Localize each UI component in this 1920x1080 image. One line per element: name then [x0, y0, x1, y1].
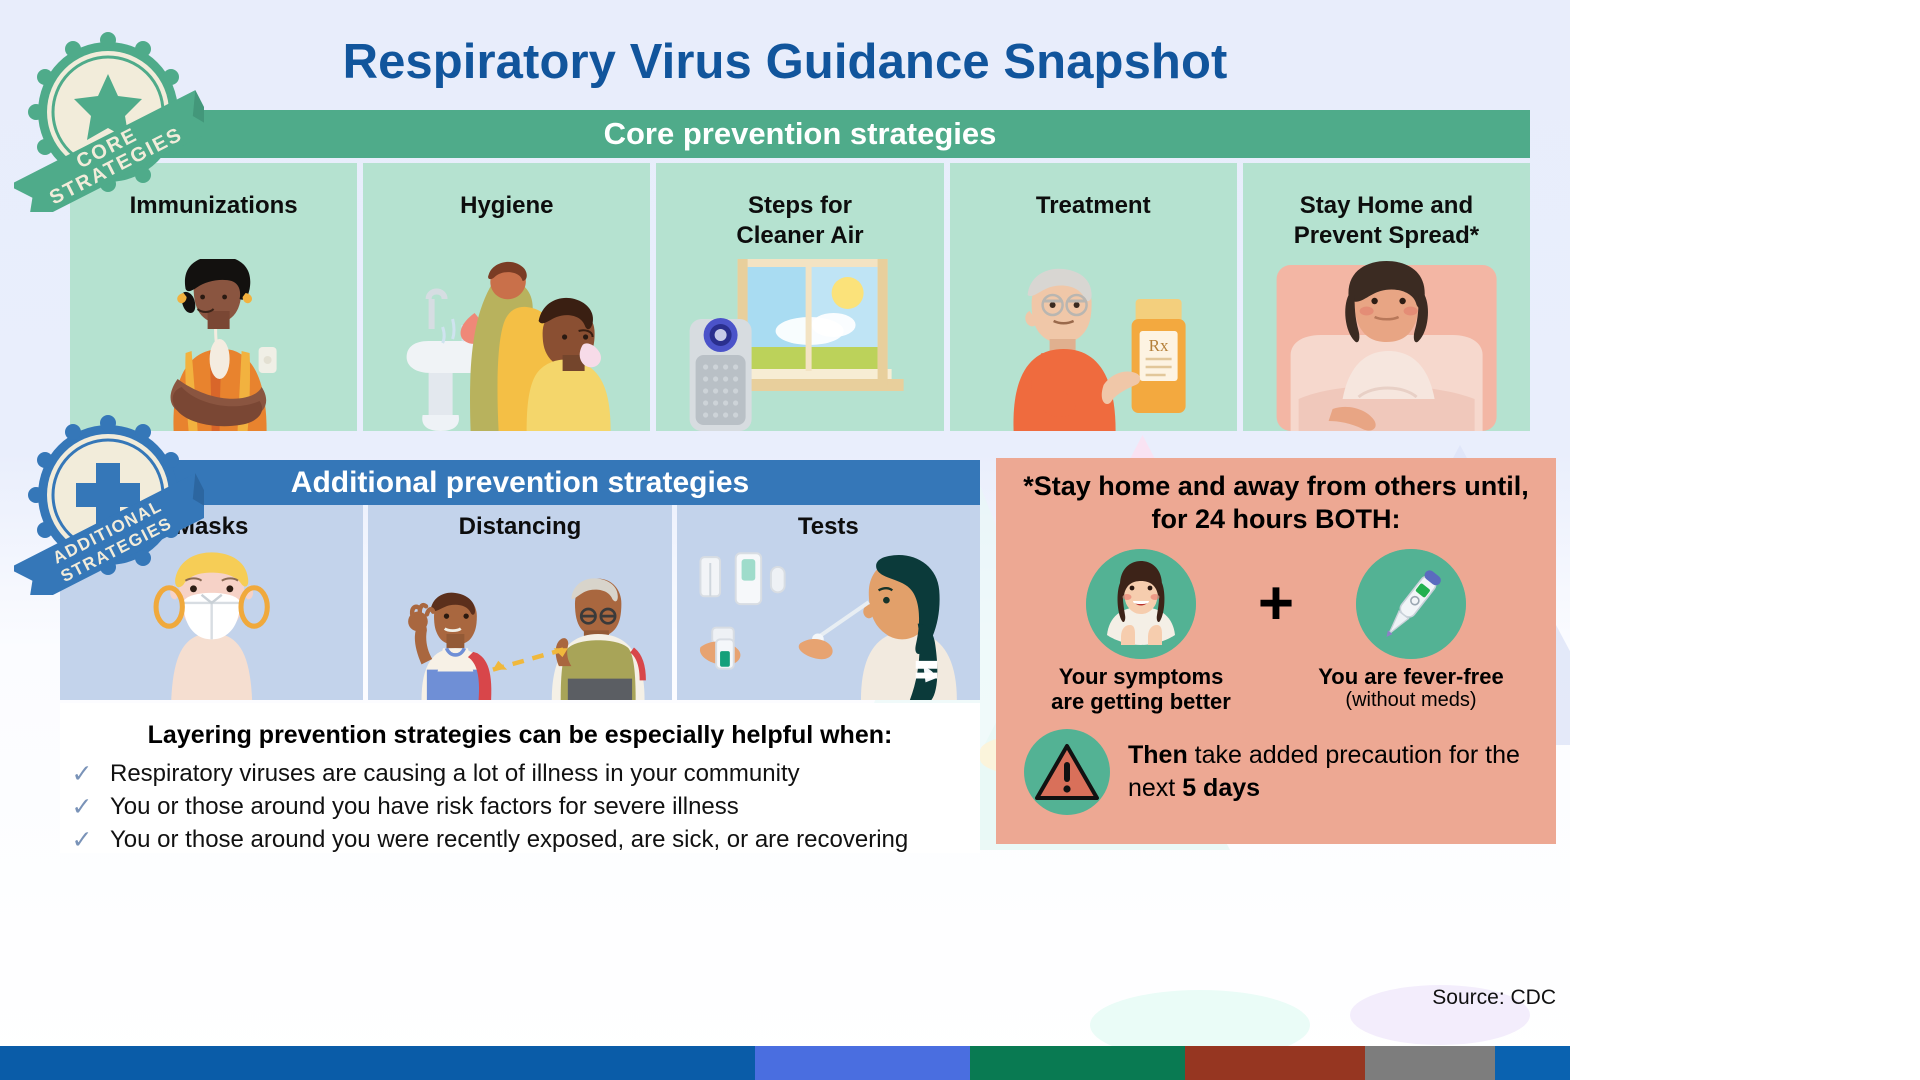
stay-home-conditions: Your symptoms are getting better + — [996, 549, 1556, 715]
core-card-hygiene[interactable]: Hygiene — [363, 163, 650, 431]
core-strategies-row: Immunizations — [70, 163, 1530, 431]
core-card-label-line2: Cleaner Air — [656, 221, 943, 251]
core-strategies-header: Core prevention strategies — [70, 110, 1530, 158]
stay-home-heading-line1: *Stay home and away from others until, — [1010, 470, 1542, 503]
condition-caption: You are fever-free (without meds) — [1306, 664, 1516, 713]
then-precaution-prefix: Then — [1128, 741, 1188, 769]
condition-caption-line2: are getting better — [1036, 689, 1246, 715]
core-strategies-badge: CORE STRATEGIES — [14, 32, 204, 217]
additional-card-distancing[interactable]: Distancing — [368, 505, 671, 700]
plus-icon: + — [1254, 549, 1298, 659]
core-card-cleaner-air[interactable]: Steps for Cleaner Air — [656, 163, 943, 431]
stay-home-heading-line2: for 24 hours BOTH: — [1010, 503, 1542, 536]
then-precaution-text: Then take added precaution for the next … — [1128, 739, 1556, 804]
infographic-canvas: Respiratory Virus Guidance Snapshot Core… — [0, 0, 1570, 1080]
condition-symptoms: Your symptoms are getting better — [1036, 549, 1246, 715]
core-card-label: Treatment — [950, 191, 1237, 221]
core-card-label-line2: Prevent Spread* — [1243, 221, 1530, 251]
checkmark-icon: ✓ — [70, 826, 94, 853]
bottom-color-bar — [0, 1046, 1570, 1080]
condition-caption: Your symptoms are getting better — [1036, 664, 1246, 715]
bottom-bar-segment — [1495, 1046, 1570, 1080]
layering-heading: Layering prevention strategies can be es… — [60, 703, 980, 750]
sick-in-bed-icon — [1243, 259, 1530, 431]
core-card-stay-home[interactable]: Stay Home and Prevent Spread* — [1243, 163, 1530, 431]
layering-list: ✓ Respiratory viruses are causing a lot … — [60, 758, 980, 856]
additional-card-label: Tests — [677, 513, 980, 541]
additional-card-label: Distancing — [368, 513, 671, 541]
list-item: ✓ You or those around you were recently … — [60, 824, 980, 857]
stay-home-heading: *Stay home and away from others until, f… — [996, 458, 1556, 537]
air-purifier-window-icon — [656, 259, 943, 431]
additional-strategies-badge: ADDITIONAL STRATEGIES — [14, 415, 204, 600]
thumbs-up-woman-icon — [1086, 549, 1196, 659]
checkmark-icon: ✓ — [70, 793, 94, 820]
list-item-text: You or those around you have risk factor… — [110, 793, 739, 822]
bottom-bar-segment — [970, 1046, 1185, 1080]
list-item: ✓ You or those around you have risk fact… — [60, 791, 980, 824]
core-strategies-header-label: Core prevention strategies — [604, 116, 997, 152]
handwashing-icon — [363, 259, 650, 431]
stay-home-panel: *Stay home and away from others until, f… — [996, 458, 1556, 844]
then-precaution-row: Then take added precaution for the next … — [1024, 729, 1556, 815]
page-title: Respiratory Virus Guidance Snapshot — [0, 34, 1570, 90]
thermometer-icon — [1356, 549, 1466, 659]
condition-fever-free: You are fever-free (without meds) — [1306, 549, 1516, 713]
core-card-label: Stay Home and Prevent Spread* — [1243, 191, 1530, 251]
condition-caption-line1: Your symptoms — [1036, 664, 1246, 690]
bottom-bar-segment — [1185, 1046, 1365, 1080]
bottom-bar-segment — [0, 1046, 755, 1080]
source-label: Source: CDC — [1432, 986, 1556, 1010]
core-card-treatment[interactable]: Treatment Rx — [950, 163, 1237, 431]
list-item: ✓ Respiratory viruses are causing a lot … — [60, 758, 980, 791]
warning-triangle-icon — [1024, 729, 1110, 815]
core-card-label-line1: Steps for — [656, 191, 943, 221]
two-people-distancing-icon — [368, 547, 671, 700]
condition-caption-line1: You are fever-free — [1306, 664, 1516, 690]
bottom-bar-segment — [755, 1046, 970, 1080]
checkmark-icon: ✓ — [70, 760, 94, 787]
condition-caption-sub: (without meds) — [1306, 689, 1516, 712]
core-card-label: Steps for Cleaner Air — [656, 191, 943, 251]
vaccinated-woman-icon — [70, 259, 357, 431]
core-card-label: Hygiene — [363, 191, 650, 221]
additional-strategies-header-label: Additional prevention strategies — [291, 466, 749, 500]
core-card-label-line1: Stay Home and — [1243, 191, 1530, 221]
layering-panel: Layering prevention strategies can be es… — [60, 703, 980, 853]
list-item-text: Respiratory viruses are causing a lot of… — [110, 760, 800, 789]
list-item-text: You or those around you were recently ex… — [110, 826, 908, 855]
nasal-swab-test-icon — [677, 547, 980, 700]
svg-text:Rx: Rx — [1148, 336, 1168, 355]
then-precaution-tail: 5 days — [1182, 774, 1260, 802]
bottom-bar-segment — [1365, 1046, 1495, 1080]
pill-bottle-senior-icon: Rx — [950, 259, 1237, 431]
additional-card-tests[interactable]: Tests — [677, 505, 980, 700]
